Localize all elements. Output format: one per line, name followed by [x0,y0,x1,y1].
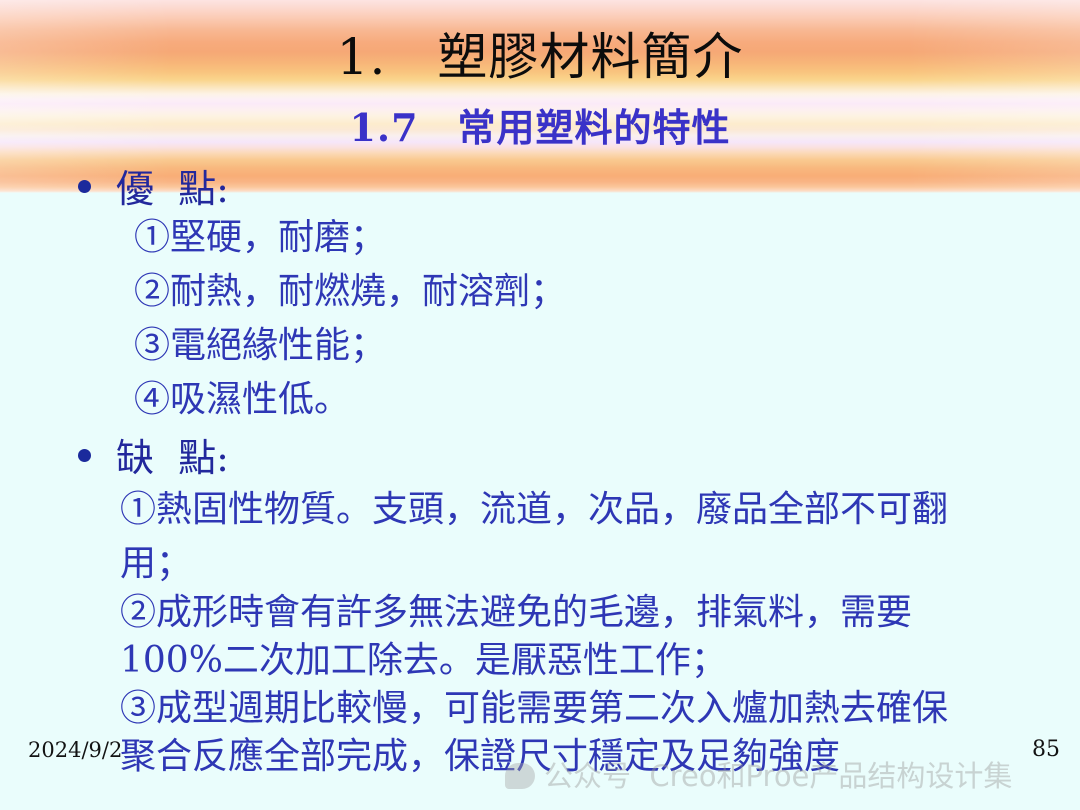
bullet-item-advantages: 優 點: [78,166,229,212]
page-subtitle: 1.7 常用塑料的特性 [0,104,1080,152]
list-item-disadvantage-2-line-1: ②成形時會有許多無法避免的毛邊，排氣料，需要 [120,591,912,635]
list-item-disadvantage-3-line-2: 聚合反應全部完成，保證尺寸穩定及足夠強度 [120,735,840,779]
page-number: 85 [1032,737,1060,762]
list-item-disadvantage-1-line-2: 用； [120,542,192,586]
list-item-disadvantage-3-line-1: ③成型週期比較慢，可能需要第二次入爐加熱去確保 [120,687,948,731]
list-item-advantage-1: ①堅硬，耐磨； [134,216,386,260]
slide-canvas: 1. 塑膠材料簡介 1.7 常用塑料的特性 優 點: ①堅硬，耐磨； ②耐熱，耐… [0,0,1080,810]
list-item-advantage-3: ③電絕緣性能； [134,324,386,368]
bullet-label-advantages: 優 點: [116,166,229,212]
list-item-disadvantage-1-line-1: ①熱固性物質。支頭，流道，次品，廢品全部不可翻 [120,488,948,532]
list-item-advantage-4: ④吸濕性低。 [134,378,350,422]
list-item-advantage-2: ②耐熱，耐燃燒，耐溶劑； [134,270,566,314]
slide-body: 優 點: ①堅硬，耐磨； ②耐熱，耐燃燒，耐溶劑； ③電絕緣性能； ④吸濕性低。… [0,152,1080,792]
page-title: 1. 塑膠材料簡介 [0,26,1080,88]
footer-date: 2024/9/2 [28,738,122,762]
bullet-label-disadvantages: 缺 點: [116,435,229,481]
bullet-dot-icon [78,180,91,193]
list-item-disadvantage-2-line-2: 100%二次加工除去。是厭惡性工作； [120,639,727,683]
bullet-item-disadvantages: 缺 點: [78,435,229,481]
bullet-dot-icon [78,449,91,462]
